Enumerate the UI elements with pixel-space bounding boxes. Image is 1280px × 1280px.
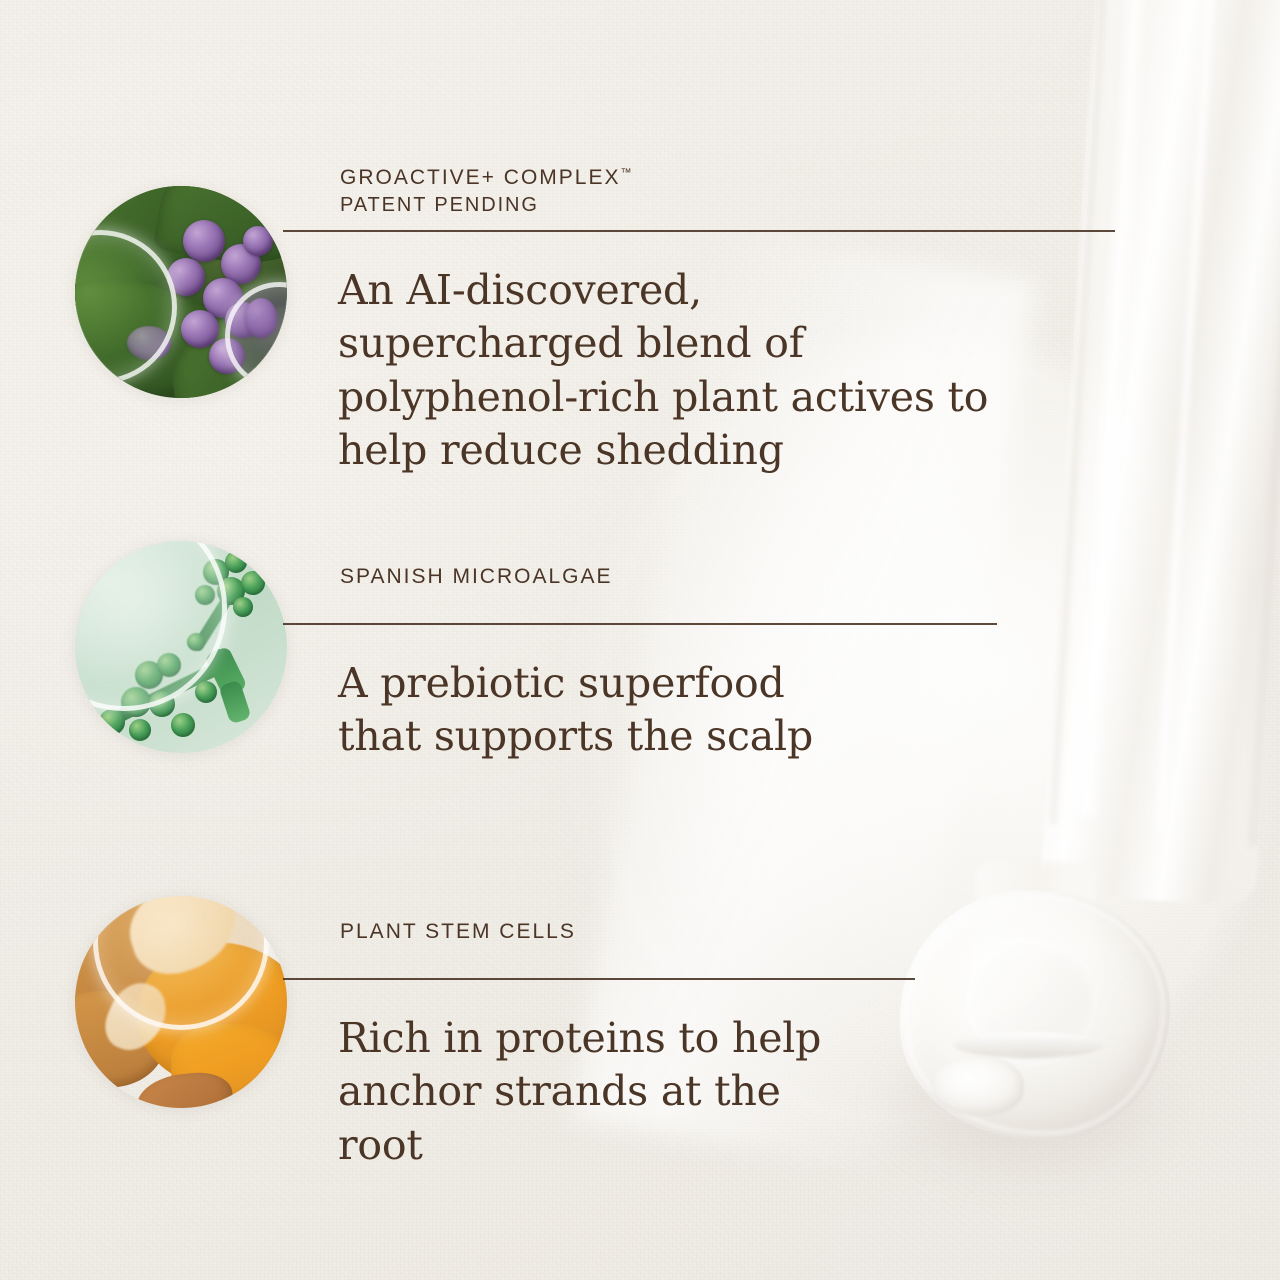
turmeric-root-photo — [75, 896, 287, 1108]
section-divider-rule — [283, 230, 1115, 232]
ingredient-description: An AI-discovered, supercharged blend of … — [338, 264, 998, 477]
ingredient-description: Rich in proteins to help anchor strands … — [338, 1012, 868, 1172]
trademark-symbol: ™ — [620, 167, 632, 179]
purple-berries-photo — [75, 186, 287, 398]
green-microalgae-photo — [75, 541, 287, 753]
microalgae-artwork — [75, 541, 287, 753]
ingredient-eyebrow: SPANISH MICROALGAE — [340, 563, 613, 591]
ingredient-description: A prebiotic superfood that supports the … — [338, 657, 838, 764]
ingredient-eyebrow-text: GROACTIVE+ COMPLEX — [340, 166, 620, 189]
ingredient-eyebrow: PLANT STEM CELLS — [340, 918, 576, 946]
berries-artwork — [75, 186, 287, 398]
ingredient-list: GROACTIVE+ COMPLEX™ PATENT PENDING An AI… — [0, 0, 1280, 1280]
section-divider-rule — [283, 623, 997, 625]
section-divider-rule — [283, 978, 915, 980]
ingredient-eyebrow-sub: PATENT PENDING — [340, 194, 539, 217]
ingredient-eyebrow: GROACTIVE+ COMPLEX™ — [340, 164, 632, 192]
turmeric-artwork — [75, 896, 287, 1108]
